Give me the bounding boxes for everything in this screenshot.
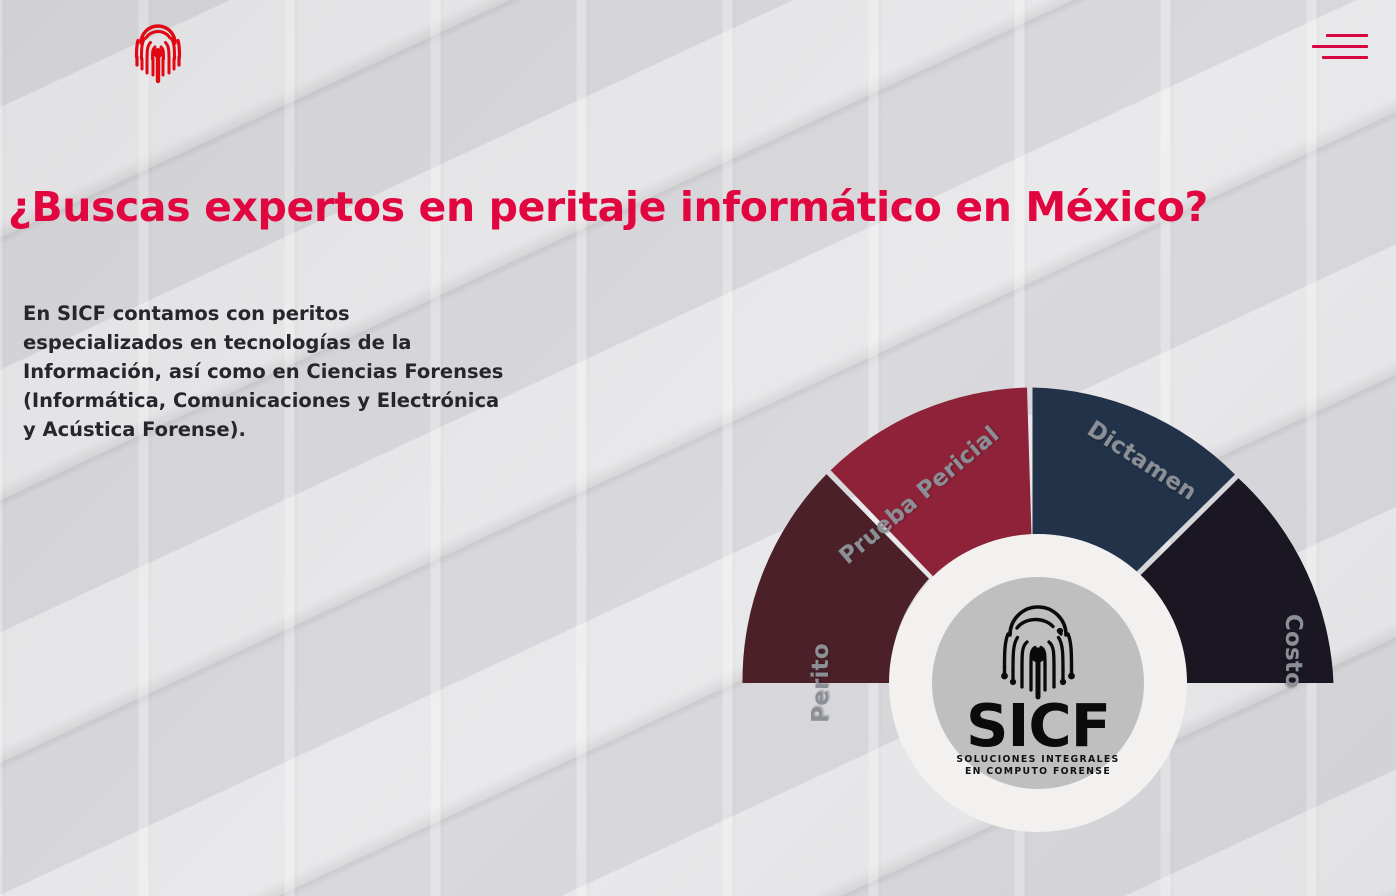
site-header xyxy=(0,0,1396,100)
sicf-tagline-line-2: EN COMPUTO FORENSE xyxy=(956,766,1119,778)
menu-line-1 xyxy=(1326,34,1368,37)
sicf-wordmark: SICF xyxy=(966,701,1110,752)
center-logo-content: SICF SOLUCIONES INTEGRALES EN COMPUTO FO… xyxy=(956,593,1119,778)
slice-label-costo: Costo xyxy=(1280,614,1306,688)
sicf-tagline-line-1: SOLUCIONES INTEGRALES xyxy=(956,754,1119,766)
center-logo-badge: SICF SOLUCIONES INTEGRALES EN COMPUTO FO… xyxy=(889,534,1187,832)
slice-label-perito: Perito xyxy=(808,643,834,723)
fingerprint-logo-icon[interactable] xyxy=(128,9,188,89)
page-title: ¿Buscas expertos en peritaje informático… xyxy=(8,183,1208,231)
intro-paragraph: En SICF contamos con peritos especializa… xyxy=(23,299,505,444)
sicf-tagline: SOLUCIONES INTEGRALES EN COMPUTO FORENSE xyxy=(956,754,1119,777)
menu-line-2 xyxy=(1312,45,1368,48)
menu-line-3 xyxy=(1322,56,1368,59)
intro-paragraph-text: En SICF contamos con peritos especializa… xyxy=(23,299,505,444)
fingerprint-logo-icon xyxy=(990,593,1086,705)
hamburger-menu-icon[interactable] xyxy=(1304,28,1372,72)
